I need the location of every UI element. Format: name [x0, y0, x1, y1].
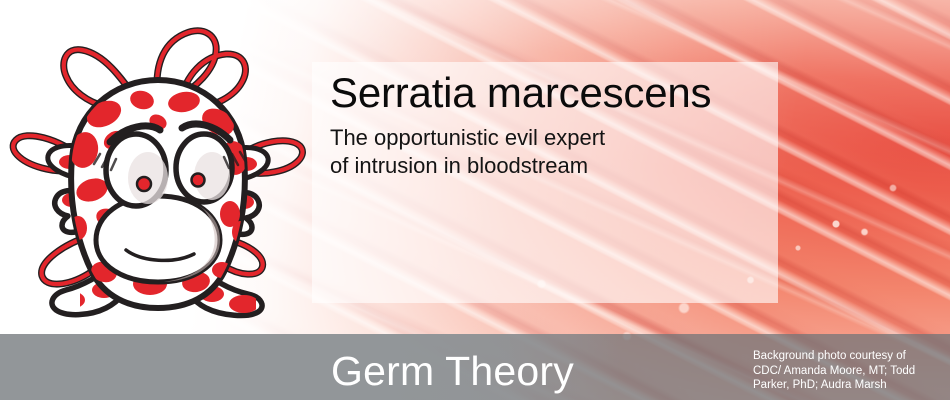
page-title: Serratia marcescens [330, 68, 800, 118]
credit-line-2: CDC/ Amanda Moore, MT; Todd [753, 364, 943, 379]
germ-eye-right [176, 134, 232, 202]
credit-line-1: Background photo courtesy of [753, 349, 943, 364]
credit-line-3: Parker, PhD; Audra Marsh [753, 378, 943, 393]
germ-eye-left [106, 134, 168, 206]
title-block: Serratia marcescens The opportunistic ev… [330, 68, 800, 180]
germ-mascot-illustration [8, 18, 308, 320]
subtitle-line-2: of intrusion in bloodstream [330, 152, 800, 180]
page-subtitle: The opportunistic evil expert of intrusi… [330, 124, 800, 180]
footer-title: Germ Theory [331, 349, 574, 393]
photo-credit: Background photo courtesy of CDC/ Amanda… [753, 349, 943, 393]
slide-canvas: Serratia marcescens The opportunistic ev… [0, 0, 950, 400]
subtitle-line-1: The opportunistic evil expert [330, 124, 800, 152]
